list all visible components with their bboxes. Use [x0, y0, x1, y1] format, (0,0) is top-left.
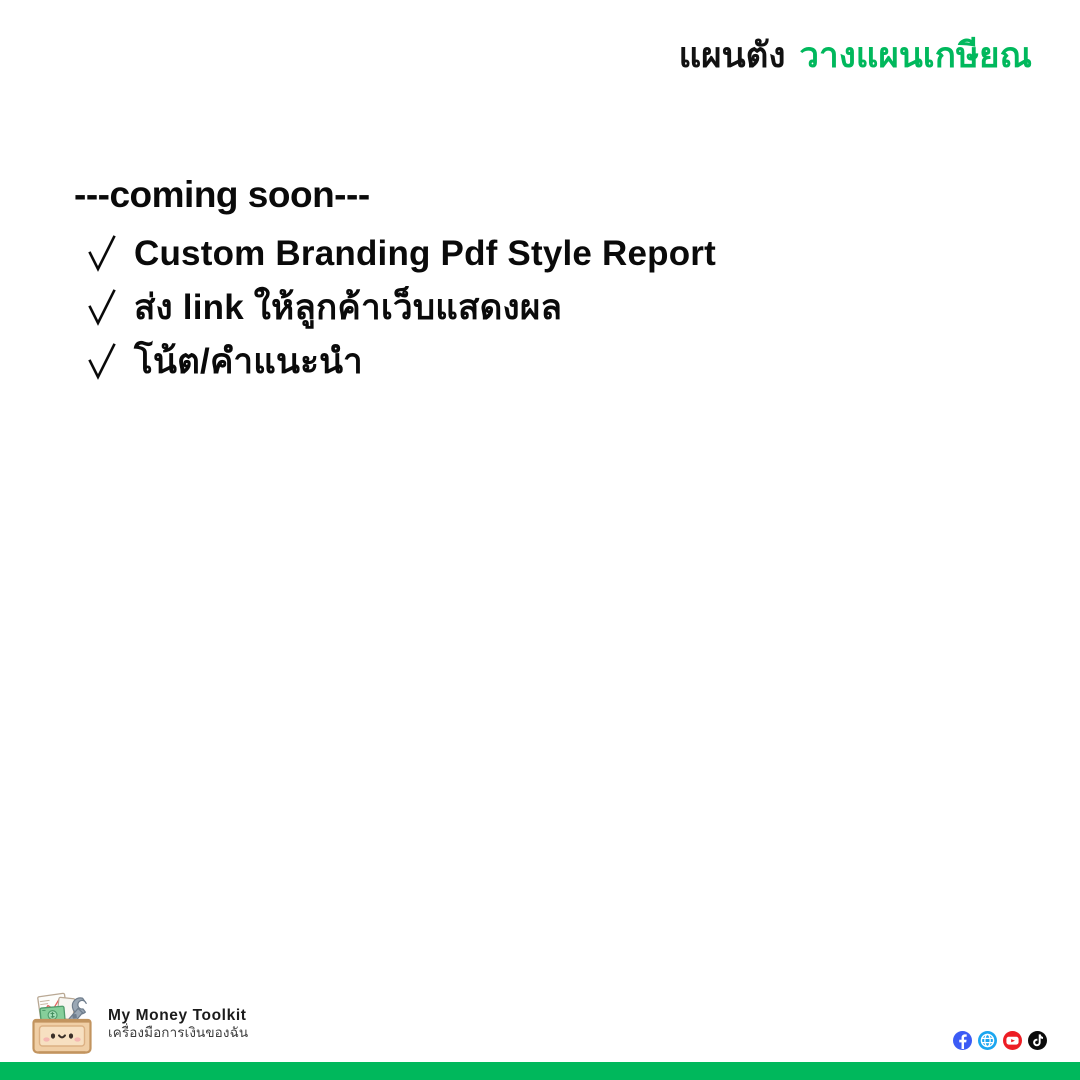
check-mark-icon — [88, 233, 116, 275]
check-mark-icon — [88, 287, 116, 329]
list-item: ส่ง link ให้ลูกค้าเว็บแสดงผล — [74, 287, 1020, 329]
feature-label: โน้ต/คำแนะนำ — [134, 341, 363, 382]
tiktok-icon[interactable] — [1028, 1031, 1047, 1050]
feature-label: Custom Branding Pdf Style Report — [134, 233, 716, 274]
check-mark-icon — [88, 341, 116, 383]
slide-canvas: แผนตัง วางแผนเกษียณ ---coming soon--- Cu… — [0, 0, 1080, 1080]
footer-brand: My Money Toolkit เครื่องมือการเงินของฉัน — [30, 990, 248, 1058]
bottom-accent-band — [0, 1062, 1080, 1080]
brand-text-block: My Money Toolkit เครื่องมือการเงินของฉัน — [108, 1007, 248, 1042]
main-content: ---coming soon--- Custom Branding Pdf St… — [74, 176, 1020, 395]
list-item: Custom Branding Pdf Style Report — [74, 233, 1020, 275]
social-links — [953, 1031, 1047, 1050]
facebook-icon[interactable] — [953, 1031, 972, 1050]
globe-icon[interactable] — [978, 1031, 997, 1050]
coming-soon-label: ---coming soon--- — [74, 176, 1020, 213]
toolbox-wallet-icon — [30, 990, 94, 1058]
brand-subtitle: เครื่องมือการเงินของฉัน — [108, 1025, 248, 1041]
header: แผนตัง วางแผนเกษียณ — [679, 38, 1032, 73]
list-item: โน้ต/คำแนะนำ — [74, 341, 1020, 383]
footer: My Money Toolkit เครื่องมือการเงินของฉัน — [0, 970, 1080, 1062]
feature-list: Custom Branding Pdf Style Report ส่ง lin… — [74, 233, 1020, 383]
brand-name: My Money Toolkit — [108, 1007, 248, 1025]
header-topic: วางแผนเกษียณ — [799, 38, 1032, 73]
feature-label: ส่ง link ให้ลูกค้าเว็บแสดงผล — [134, 287, 562, 328]
header-brand: แผนตัง — [679, 38, 786, 73]
youtube-icon[interactable] — [1003, 1031, 1022, 1050]
